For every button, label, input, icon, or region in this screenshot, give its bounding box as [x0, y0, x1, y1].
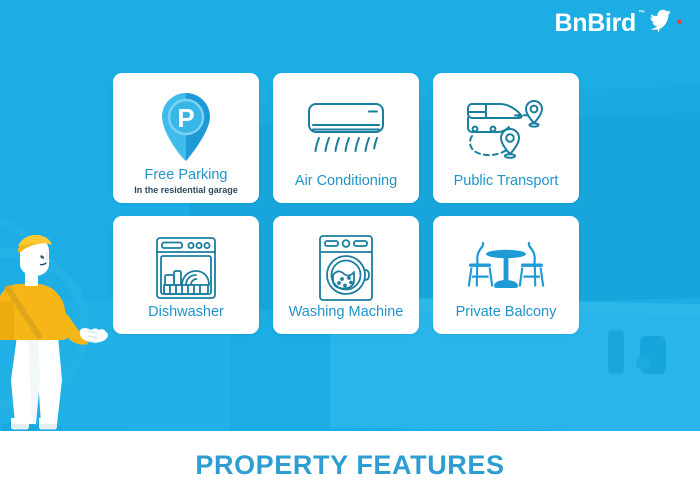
feature-title: Free Parking — [144, 168, 227, 184]
feature-subtitle: In the residential garage — [134, 185, 238, 203]
person-presenting-illustration — [0, 232, 124, 431]
bus-route-icon — [433, 87, 579, 174]
feature-card-dishwasher[interactable]: Dishwasher — [113, 216, 259, 334]
dishwasher-icon — [113, 230, 259, 305]
hero-panel: BnBird ™ — [0, 0, 700, 431]
footer-bar: PROPERTY FEATURES — [0, 431, 700, 500]
parking-pin-icon: P — [113, 87, 259, 168]
feature-card-grid: P Free Parking In the residential garage — [113, 73, 579, 334]
brand-name-text: BnBird — [554, 9, 636, 37]
photo-object-knob — [636, 356, 650, 370]
feature-title: Air Conditioning — [295, 174, 397, 203]
feature-card-private-balcony[interactable]: Private Balcony — [433, 216, 579, 334]
feature-card-washing-machine[interactable]: Washing Machine — [273, 216, 419, 334]
feature-title: Public Transport — [454, 174, 559, 203]
table-chairs-icon — [433, 230, 579, 305]
feature-title: Dishwasher — [148, 305, 224, 334]
air-conditioner-icon — [273, 87, 419, 174]
footer-title: PROPERTY FEATURES — [195, 450, 504, 481]
photo-object-bottle — [608, 330, 624, 374]
feature-card-free-parking[interactable]: P Free Parking In the residential garage — [113, 73, 259, 203]
brand-logo[interactable]: BnBird ™ — [554, 8, 682, 39]
svg-text:P: P — [177, 103, 194, 133]
brand-name: BnBird ™ — [554, 11, 636, 36]
property-features-slide: BnBird ™ — [0, 0, 700, 500]
feature-card-public-transport[interactable]: Public Transport — [433, 73, 579, 203]
feature-title: Washing Machine — [289, 305, 404, 334]
trademark-symbol: ™ — [638, 10, 645, 17]
washing-machine-icon — [273, 230, 419, 305]
feature-card-air-conditioning[interactable]: Air Conditioning — [273, 73, 419, 203]
bird-icon — [648, 8, 682, 39]
feature-title: Private Balcony — [456, 305, 557, 334]
